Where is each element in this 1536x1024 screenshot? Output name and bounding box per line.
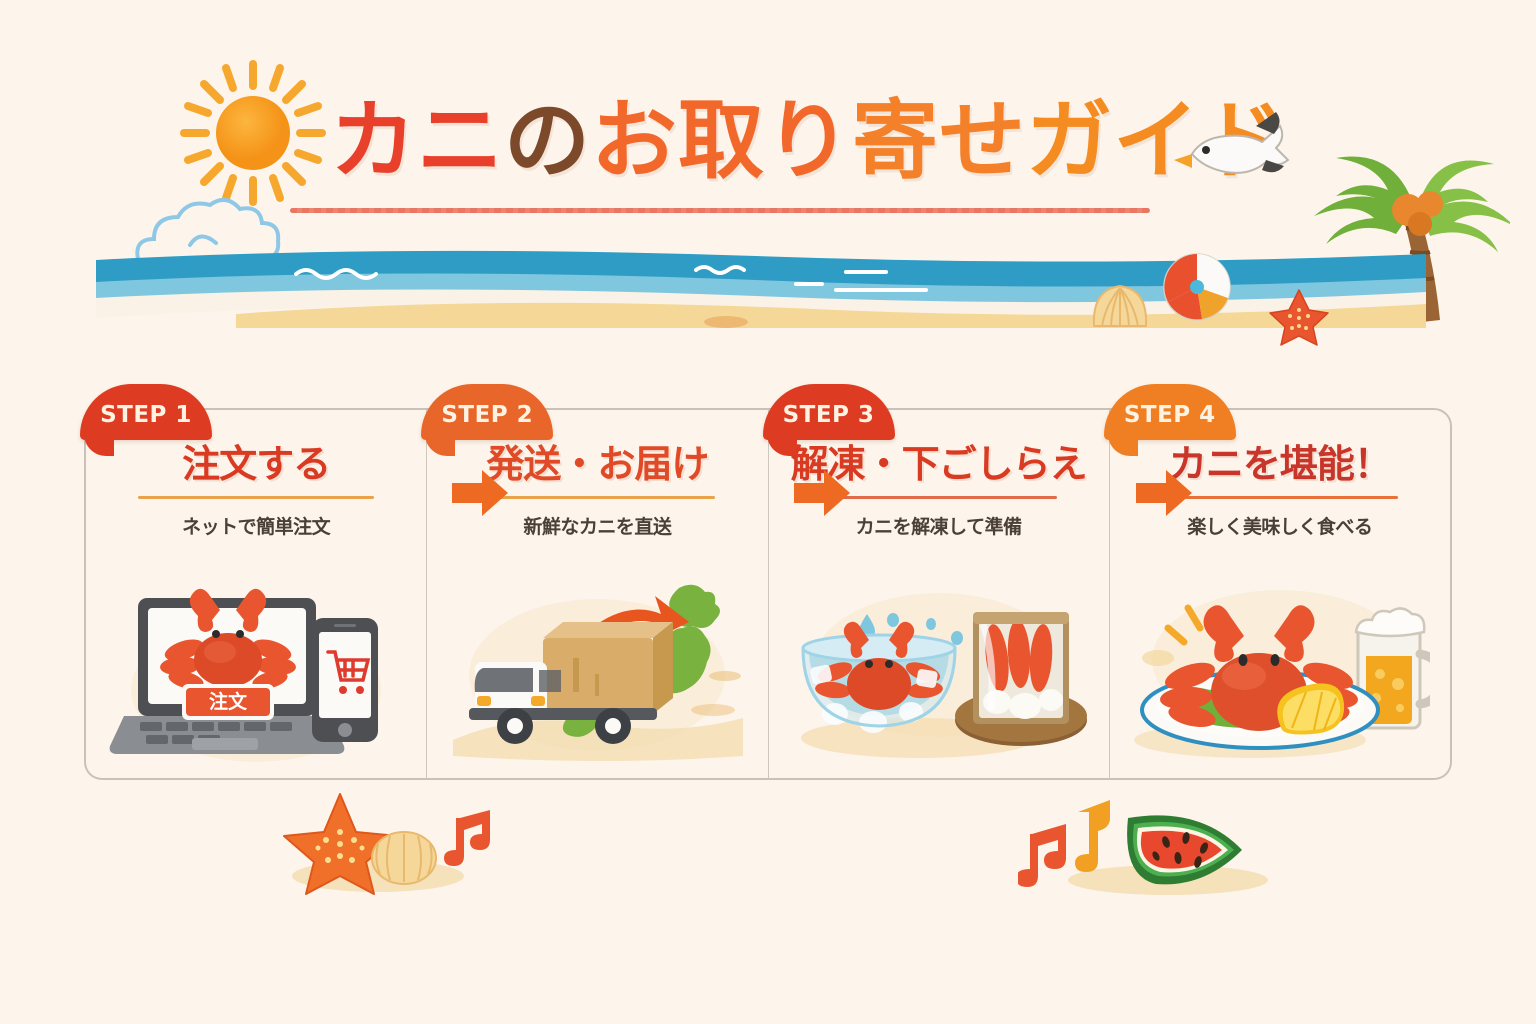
step-card-4[interactable]: STEP 4 カニを堪能！ 楽しく美味しく食べる bbox=[1109, 408, 1452, 780]
step-rule-4 bbox=[1162, 496, 1398, 499]
order-button-on-screen[interactable]: 注文 bbox=[182, 684, 274, 720]
step-head-1: 注文する ネットで簡単注文 bbox=[86, 444, 426, 539]
footer-decor-right bbox=[1018, 788, 1268, 898]
step-rule-2 bbox=[479, 496, 715, 499]
music-note-icon bbox=[444, 810, 490, 866]
vacuum-pack-icon bbox=[973, 612, 1069, 724]
infographic-canvas: カニ の お取り 寄せ ガイド bbox=[0, 0, 1536, 1024]
steps-container: STEP 1 注文する ネットで簡単注文 bbox=[84, 408, 1452, 780]
footer-decor-left bbox=[278, 788, 508, 898]
step-badge-3: STEP 3 bbox=[763, 384, 895, 440]
laptop-phone-order-illustration: 注文 bbox=[106, 580, 406, 770]
step-art-1: 注文 bbox=[86, 580, 426, 770]
step-art-2 bbox=[427, 580, 767, 770]
crab-plate-beer-illustration bbox=[1130, 580, 1430, 770]
step-card-3[interactable]: STEP 3 解凍・下ごしらえ カニを解凍して準備 bbox=[768, 408, 1109, 780]
step-badge-4: STEP 4 bbox=[1104, 384, 1236, 440]
seashell-icon bbox=[372, 832, 436, 884]
sun-icon bbox=[178, 58, 328, 208]
delivery-truck-japan-map-illustration bbox=[447, 580, 747, 770]
step-subtitle-1: ネットで簡単注文 bbox=[86, 512, 426, 539]
seashell-icon bbox=[1090, 282, 1150, 330]
hero-section: カニ の お取り 寄せ ガイド bbox=[0, 0, 1536, 370]
step-title-1: 注文する bbox=[86, 444, 426, 486]
page-title: カニ の お取り 寄せ ガイド bbox=[330, 86, 1190, 196]
step-art-3 bbox=[769, 580, 1109, 770]
step-arrow-1-to-2 bbox=[452, 470, 508, 516]
title-part-2: の bbox=[504, 98, 591, 184]
step-card-2[interactable]: STEP 2 発送・お届け 新鮮なカニを直送 bbox=[426, 408, 767, 780]
title-underline bbox=[290, 208, 1150, 213]
step-arrow-3-to-4 bbox=[1136, 470, 1192, 516]
step-art-4 bbox=[1110, 580, 1450, 770]
title-part-4: 寄せ bbox=[852, 98, 1026, 184]
title-part-1: カニ bbox=[330, 98, 504, 184]
title-part-3: お取り bbox=[591, 98, 852, 184]
step-badge-1: STEP 1 bbox=[80, 384, 212, 440]
step-rule-3 bbox=[821, 496, 1057, 499]
music-note-icon bbox=[1075, 800, 1110, 872]
beach-ball-icon bbox=[1162, 252, 1232, 322]
step-card-1[interactable]: STEP 1 注文する ネットで簡単注文 bbox=[84, 408, 426, 780]
step-arrow-2-to-3 bbox=[794, 470, 850, 516]
starfish-icon bbox=[1268, 288, 1330, 346]
music-note-icon bbox=[1018, 824, 1066, 887]
step-rule-1 bbox=[138, 496, 374, 499]
crab-ice-bowl-vacuum-pack-illustration bbox=[789, 580, 1089, 770]
order-button-label: 注文 bbox=[209, 690, 248, 713]
step-badge-2: STEP 2 bbox=[421, 384, 553, 440]
